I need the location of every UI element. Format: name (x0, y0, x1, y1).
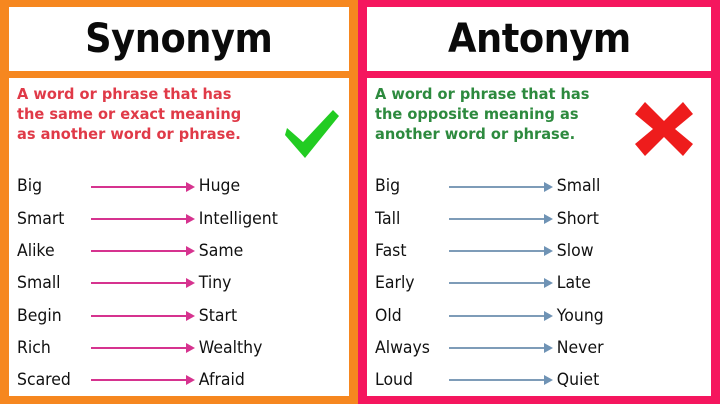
antonym-title-card: Antonym (367, 7, 711, 71)
green-check-icon (277, 102, 343, 164)
table-row: Big Small (375, 173, 707, 200)
antonym-source-word: Old (375, 308, 445, 325)
table-row: Old Young (375, 302, 707, 329)
antonym-source-word: Loud (375, 372, 445, 389)
antonym-source-word: Tall (375, 211, 445, 228)
table-row: Small Tiny (17, 270, 345, 297)
table-row: Early Late (375, 270, 707, 297)
table-row: Smart Intelligent (17, 205, 345, 232)
antonym-target-word: Small (553, 178, 699, 195)
antonym-definition: A word or phrase that has the opposite m… (375, 84, 615, 145)
arrow-right-icon (449, 374, 553, 386)
synonym-source-word: Small (17, 275, 87, 292)
synonym-title-card: Synonym (9, 7, 349, 71)
antonym-title: Antonym (448, 19, 631, 59)
synonym-definition: A word or phrase that has the same or ex… (17, 84, 257, 145)
antonym-target-word: Never (553, 340, 699, 357)
synonym-target-word: Tiny (195, 275, 338, 292)
synonym-target-word: Wealthy (195, 340, 338, 357)
antonym-panel: Antonym A word or phrase that has the op… (358, 0, 720, 404)
synonym-target-word: Same (195, 243, 338, 260)
table-row: Alike Same (17, 238, 345, 265)
antonym-source-word: Fast (375, 243, 445, 260)
antonym-target-word: Short (553, 211, 699, 228)
antonym-target-word: Young (553, 308, 699, 325)
synonym-target-word: Afraid (195, 372, 338, 389)
antonym-pair-list: Big Small Tall Short Fast Slow Early (375, 173, 707, 394)
synonym-source-word: Begin (17, 308, 87, 325)
antonym-target-word: Slow (553, 243, 699, 260)
synonym-source-word: Big (17, 178, 87, 195)
table-row: Tall Short (375, 205, 707, 232)
antonym-body-card: A word or phrase that has the opposite m… (367, 78, 711, 396)
synonym-antonym-comparison-board: Synonym A word or phrase that has the sa… (0, 0, 720, 404)
table-row: Begin Start (17, 302, 345, 329)
synonym-source-word: Rich (17, 340, 87, 357)
synonym-pair-list: Big Huge Smart Intelligent Alike Same Sm… (17, 173, 345, 394)
arrow-right-icon (91, 374, 195, 386)
synonym-body-card: A word or phrase that has the same or ex… (9, 78, 349, 396)
antonym-target-word: Late (553, 275, 699, 292)
arrow-right-icon (449, 310, 553, 322)
arrow-right-icon (91, 213, 195, 225)
arrow-right-icon (449, 277, 553, 289)
synonym-source-word: Scared (17, 372, 87, 389)
table-row: Fast Slow (375, 238, 707, 265)
antonym-source-word: Early (375, 275, 445, 292)
arrow-right-icon (91, 181, 195, 193)
arrow-right-icon (449, 181, 553, 193)
synonym-source-word: Smart (17, 211, 87, 228)
table-row: Loud Quiet (375, 367, 707, 394)
red-cross-icon (631, 98, 697, 160)
table-row: Always Never (375, 335, 707, 362)
arrow-right-icon (91, 342, 195, 354)
table-row: Scared Afraid (17, 367, 345, 394)
antonym-target-word: Quiet (553, 372, 699, 389)
synonym-target-word: Start (195, 308, 338, 325)
arrow-right-icon (449, 213, 553, 225)
synonym-panel: Synonym A word or phrase that has the sa… (0, 0, 358, 404)
arrow-right-icon (91, 310, 195, 322)
synonym-source-word: Alike (17, 243, 87, 260)
arrow-right-icon (91, 277, 195, 289)
table-row: Rich Wealthy (17, 335, 345, 362)
table-row: Big Huge (17, 173, 345, 200)
antonym-source-word: Always (375, 340, 445, 357)
synonym-title: Synonym (85, 19, 272, 59)
synonym-target-word: Huge (195, 178, 338, 195)
synonym-target-word: Intelligent (195, 211, 338, 228)
arrow-right-icon (91, 245, 195, 257)
arrow-right-icon (449, 342, 553, 354)
antonym-source-word: Big (375, 178, 445, 195)
arrow-right-icon (449, 245, 553, 257)
